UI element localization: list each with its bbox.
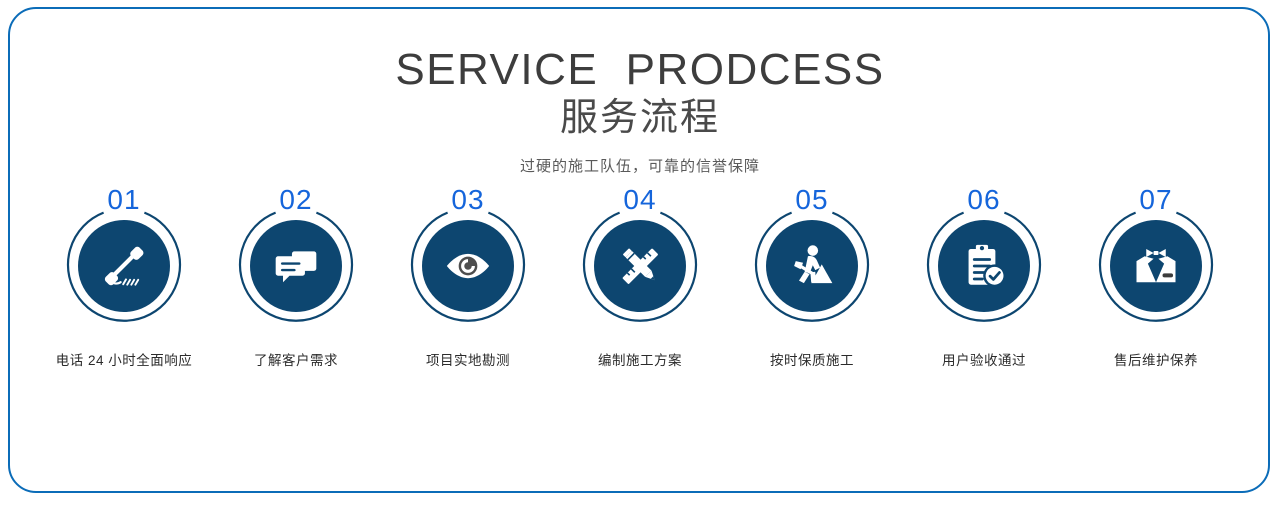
step-icon-disc: [594, 220, 686, 312]
process-step-06: 06 用户验收通过: [898, 206, 1070, 369]
step-label: 用户验收通过: [942, 349, 1026, 369]
step-number: 02: [236, 186, 356, 214]
phone-handset-icon: [98, 240, 150, 292]
step-number: 04: [580, 186, 700, 214]
step-label: 编制施工方案: [598, 349, 682, 369]
step-number: 06: [924, 186, 1044, 214]
process-step-01: 01 电话 24 小时全面响应: [38, 206, 210, 369]
process-step-05: 05 按时保质施工: [726, 206, 898, 369]
pencil-ruler-icon: [614, 240, 666, 292]
step-badge: 01: [64, 206, 184, 326]
process-step-07: 07 售后维护保养: [1070, 206, 1242, 369]
step-label: 了解客户需求: [254, 349, 338, 369]
step-icon-disc: [766, 220, 858, 312]
step-badge: 05: [752, 206, 872, 326]
process-step-03: 03 项目实地勘测: [382, 206, 554, 369]
step-badge: 02: [236, 206, 356, 326]
service-process-banner: SERVICE PRODCESS 服务流程 过硬的施工队伍，可靠的信誉保障: [0, 0, 1280, 519]
step-badge: 03: [408, 206, 528, 326]
step-badge: 07: [1096, 206, 1216, 326]
process-steps-row: 01 电话 24 小时全面响应: [38, 206, 1242, 369]
process-step-04: 04 编制施工方案: [554, 206, 726, 369]
header-block: SERVICE PRODCESS 服务流程 过硬的施工队伍，可靠的信誉保障: [0, 0, 1280, 176]
step-label: 售后维护保养: [1114, 349, 1198, 369]
construction-worker-icon: [786, 240, 838, 292]
step-label: 项目实地勘测: [426, 349, 510, 369]
step-icon-disc: [422, 220, 514, 312]
page-title-chinese: 服务流程: [0, 95, 1280, 141]
step-number: 05: [752, 186, 872, 214]
chat-bubbles-icon: [270, 240, 322, 292]
step-icon-disc: [250, 220, 342, 312]
step-number: 07: [1096, 186, 1216, 214]
step-label: 电话 24 小时全面响应: [56, 349, 193, 369]
service-suit-icon: [1130, 240, 1182, 292]
process-step-02: 02 了解客户需求: [210, 206, 382, 369]
step-badge: 04: [580, 206, 700, 326]
step-icon-disc: [938, 220, 1030, 312]
page-title-english: SERVICE PRODCESS: [0, 0, 1280, 95]
step-badge: 06: [924, 206, 1044, 326]
step-icon-disc: [78, 220, 170, 312]
step-label: 按时保质施工: [770, 349, 854, 369]
clipboard-check-icon: [958, 240, 1010, 292]
step-icon-disc: [1110, 220, 1202, 312]
step-number: 01: [64, 186, 184, 214]
page-subtitle: 过硬的施工队伍，可靠的信誉保障: [0, 141, 1280, 176]
eye-icon: [442, 240, 494, 292]
step-number: 03: [408, 186, 528, 214]
